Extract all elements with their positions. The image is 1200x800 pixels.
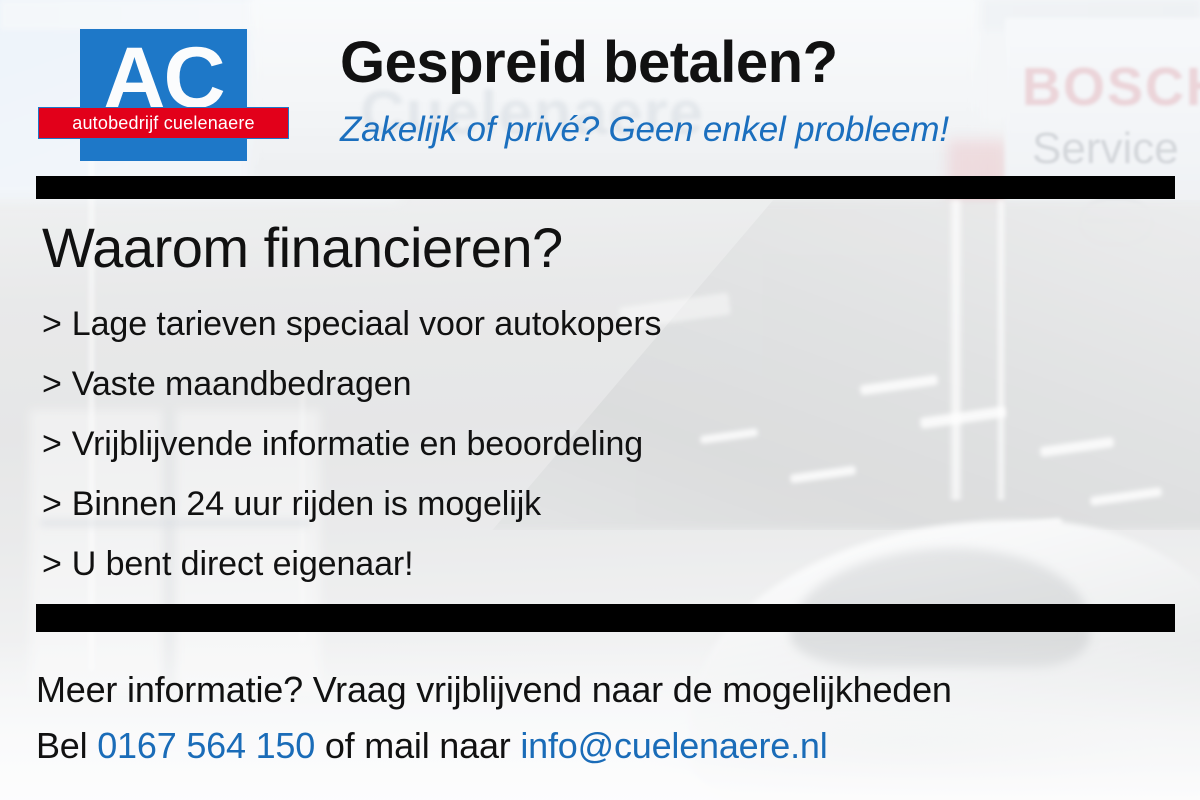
footer-info-text: Meer informatie? Vraag vrijblijvend naar…	[36, 666, 952, 714]
list-item: >U bent direct eigenaar!	[42, 534, 1042, 594]
footer-mail-middle: of mail naar	[315, 725, 520, 766]
footer-call-prefix: Bel	[36, 725, 97, 766]
logo-red-banner: autobedrijf cuelenaere	[38, 107, 289, 139]
list-item-label: Vrijblijvende informatie en beoordeling	[72, 425, 643, 463]
list-item-label: Lage tarieven speciaal voor autokopers	[72, 305, 662, 343]
divider-bottom	[36, 604, 1175, 632]
list-item: >Lage tarieven speciaal voor autokopers	[42, 294, 1042, 354]
chevron-right-icon: >	[42, 485, 62, 523]
phone-number-link[interactable]: 0167 564 150	[97, 725, 315, 766]
footer-contact-line: Bel 0167 564 150 of mail naar info@cuele…	[36, 722, 828, 770]
chevron-right-icon: >	[42, 545, 62, 583]
section-heading: Waarom financieren?	[42, 215, 563, 281]
subheadline: Zakelijk of privé? Geen enkel probleem!	[340, 108, 949, 152]
chevron-right-icon: >	[42, 365, 62, 403]
list-item: >Vaste maandbedragen	[42, 354, 1042, 414]
chevron-right-icon: >	[42, 425, 62, 463]
list-item: >Binnen 24 uur rijden is mogelijk	[42, 474, 1042, 534]
poster-content: AC autobedrijf cuelenaere Gespreid betal…	[0, 0, 1200, 800]
logo-banner-label: autobedrijf cuelenaere	[39, 108, 288, 138]
headline: Gespreid betalen?	[340, 28, 838, 98]
financing-poster: Cuelenaere BOSCH Service AC	[0, 0, 1200, 800]
list-item: >Vrijblijvende informatie en beoordeling	[42, 414, 1042, 474]
company-logo: AC autobedrijf cuelenaere	[80, 29, 247, 161]
chevron-right-icon: >	[42, 305, 62, 343]
list-item-label: U bent direct eigenaar!	[72, 545, 414, 583]
benefits-list: >Lage tarieven speciaal voor autokopers …	[42, 294, 1042, 594]
list-item-label: Binnen 24 uur rijden is mogelijk	[72, 485, 541, 523]
email-link[interactable]: info@cuelenaere.nl	[520, 725, 827, 766]
divider-top	[36, 176, 1175, 199]
list-item-label: Vaste maandbedragen	[72, 365, 412, 403]
